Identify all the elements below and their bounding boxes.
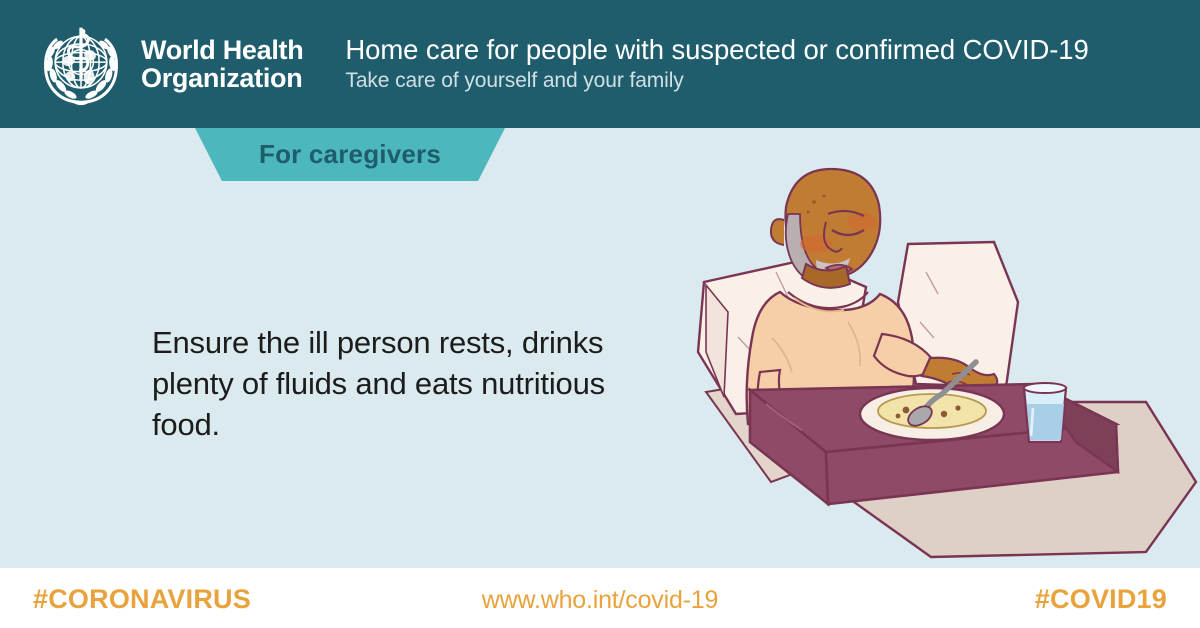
freckle-1 bbox=[812, 200, 816, 204]
freckle-3 bbox=[806, 210, 809, 213]
banner-label: For caregivers bbox=[259, 139, 441, 170]
page-subtitle: Take care of yourself and your family bbox=[345, 67, 1200, 95]
who-emblem-icon bbox=[33, 20, 129, 108]
ill-person-eating-in-bed-illustration bbox=[676, 152, 1200, 568]
who-wordmark-line1: World Health bbox=[141, 36, 303, 64]
hashtag-covid19[interactable]: #COVID19 bbox=[1035, 584, 1167, 615]
cheek-flush-left bbox=[800, 235, 832, 253]
page-title: Home care for people with suspected or c… bbox=[345, 33, 1200, 67]
who-wordmark: World Health Organization bbox=[141, 36, 303, 92]
glass-rim bbox=[1024, 383, 1066, 393]
who-covid-url[interactable]: www.who.int/covid-19 bbox=[0, 586, 1200, 615]
footer-bar: #CORONAVIRUS www.who.int/covid-19 #COVID… bbox=[0, 568, 1200, 628]
main-message: Ensure the ill person rests, drinks plen… bbox=[152, 322, 622, 445]
who-covid-infographic: World Health Organization Home care for … bbox=[0, 0, 1200, 628]
for-caregivers-banner: For caregivers bbox=[195, 128, 505, 181]
freckle-2 bbox=[822, 194, 825, 197]
ear bbox=[771, 219, 784, 245]
who-wordmark-line2: Organization bbox=[141, 64, 303, 92]
header-text-block: Home care for people with suspected or c… bbox=[345, 33, 1200, 95]
header-bar: World Health Organization Home care for … bbox=[0, 0, 1200, 128]
